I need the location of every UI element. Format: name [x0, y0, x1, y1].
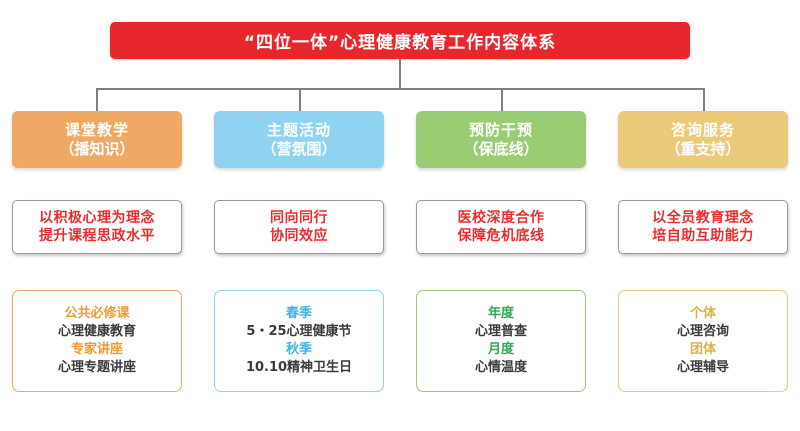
statement-box-4: 以全员教育理念 培自助互助能力: [618, 200, 788, 254]
detail-box-4: 个体 心理咨询 团体 心理辅导: [618, 290, 788, 392]
column-classroom-teaching: 课堂教学 （播知识） 以积极心理为理念 提升课程思政水平 公共必修课 心理健康教…: [12, 0, 182, 431]
detail-box-2: 春季 5・25心理健康节 秋季 10.10精神卫生日: [214, 290, 384, 392]
statement-box-2: 同向同行 协同效应: [214, 200, 384, 254]
pillar-subtitle-4: （重支持）: [665, 140, 740, 158]
statement-line-1a: 以积极心理为理念: [39, 209, 155, 227]
detail-1-body-1: 心理健康教育: [58, 323, 136, 341]
pillar-header-4: 咨询服务 （重支持）: [618, 111, 788, 168]
column-prevention-intervention: 预防干预 （保底线） 医校深度合作 保障危机底线 年度 心理普查 月度 心情温度: [416, 0, 586, 431]
detail-4-body-2: 心理辅导: [677, 359, 729, 377]
detail-box-3: 年度 心理普查 月度 心情温度: [416, 290, 586, 392]
detail-4-body-1: 心理咨询: [677, 323, 729, 341]
statement-box-1: 以积极心理为理念 提升课程思政水平: [12, 200, 182, 254]
pillar-subtitle-2: （营氛围）: [261, 140, 336, 158]
pillar-header-3: 预防干预 （保底线）: [416, 111, 586, 168]
statement-line-3b: 保障危机底线: [458, 227, 545, 245]
detail-3-accent-1: 年度: [488, 305, 514, 323]
pillar-subtitle-3: （保底线）: [463, 140, 538, 158]
pillar-title-3: 预防干预: [469, 121, 533, 139]
diagram-title-banner: “四位一体”心理健康教育工作内容体系: [110, 22, 690, 59]
statement-line-2b: 协同效应: [270, 227, 328, 245]
statement-line-1b: 提升课程思政水平: [39, 227, 155, 245]
statement-box-3: 医校深度合作 保障危机底线: [416, 200, 586, 254]
pillar-title-2: 主题活动: [267, 121, 331, 139]
detail-2-body-2: 10.10精神卫生日: [246, 359, 352, 377]
column-counseling-service: 咨询服务 （重支持） 以全员教育理念 培自助互助能力 个体 心理咨询 团体 心理…: [618, 0, 788, 431]
detail-3-body-2: 心情温度: [475, 359, 527, 377]
pillar-header-2: 主题活动 （营氛围）: [214, 111, 384, 168]
column-theme-activities: 主题活动 （营氛围） 同向同行 协同效应 春季 5・25心理健康节 秋季 10.…: [214, 0, 384, 431]
detail-4-accent-2: 团体: [690, 341, 716, 359]
connector-horizontal-bar: [96, 88, 704, 90]
statement-line-4b: 培自助互助能力: [652, 227, 754, 245]
connector-stem: [399, 59, 401, 89]
detail-2-body-1: 5・25心理健康节: [246, 323, 351, 341]
diagram-canvas: “四位一体”心理健康教育工作内容体系 课堂教学 （播知识） 以积极心理为理念 提…: [0, 0, 800, 431]
detail-1-body-2: 心理专题讲座: [58, 359, 136, 377]
statement-line-3a: 医校深度合作: [458, 209, 545, 227]
detail-2-accent-2: 秋季: [286, 341, 312, 359]
detail-1-accent-2: 专家讲座: [71, 341, 123, 359]
pillar-subtitle-1: （播知识）: [59, 140, 134, 158]
pillar-title-1: 课堂教学: [65, 121, 129, 139]
detail-3-accent-2: 月度: [488, 341, 514, 359]
statement-line-4a: 以全员教育理念: [652, 209, 754, 227]
detail-1-accent-1: 公共必修课: [64, 305, 129, 323]
detail-4-accent-1: 个体: [690, 305, 716, 323]
pillar-header-1: 课堂教学 （播知识）: [12, 111, 182, 168]
detail-box-1: 公共必修课 心理健康教育 专家讲座 心理专题讲座: [12, 290, 182, 392]
detail-2-accent-1: 春季: [286, 305, 312, 323]
detail-3-body-1: 心理普查: [475, 323, 527, 341]
statement-line-2a: 同向同行: [270, 209, 328, 227]
pillar-title-4: 咨询服务: [671, 121, 735, 139]
